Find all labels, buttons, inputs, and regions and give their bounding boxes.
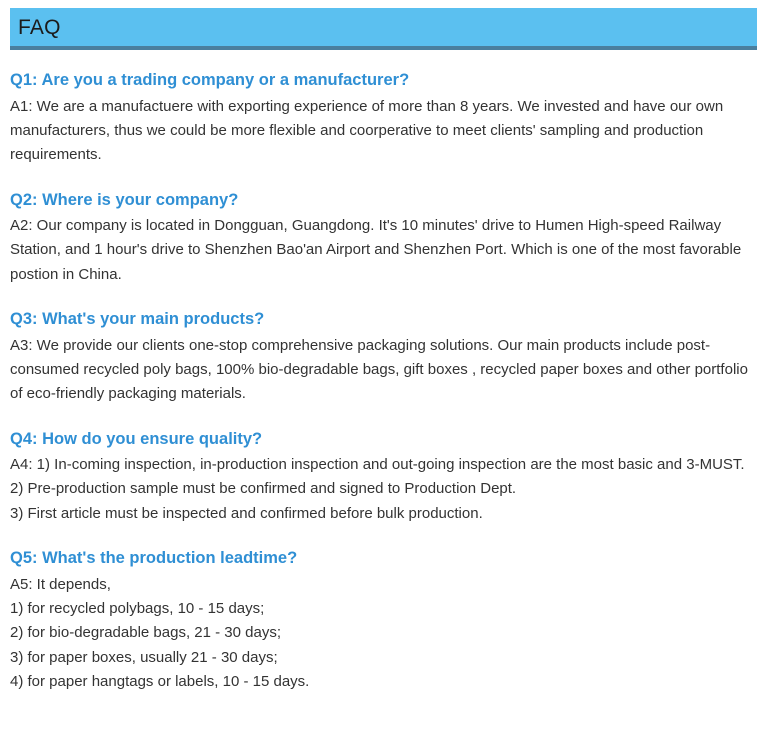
faq-answer-line: 3) for paper boxes, usually 21 - 30 days… [10, 646, 752, 670]
faq-answer-q3: A3: We provide our clients one-stop comp… [10, 334, 752, 407]
faq-header-banner: FAQ [10, 8, 757, 50]
page-title: FAQ [18, 17, 61, 38]
faq-answer-line: A2: Our company is located in Dongguan, … [10, 214, 752, 287]
faq-item-q1: Q1: Are you a trading company or a manuf… [10, 70, 753, 168]
faq-answer-line: 4) for paper hangtags or labels, 10 - 15… [10, 670, 752, 694]
faq-answer-line: A4: 1) In-coming inspection, in-producti… [10, 453, 752, 477]
faq-answer-line: A3: We provide our clients one-stop comp… [10, 334, 752, 407]
faq-question-q2: Q2: Where is your company? [10, 190, 753, 211]
faq-answer-q4: A4: 1) In-coming inspection, in-producti… [10, 453, 752, 526]
faq-question-q3: Q3: What's your main products? [10, 309, 753, 330]
faq-answer-line: 2) Pre-production sample must be confirm… [10, 477, 752, 501]
faq-answer-line: 1) for recycled polybags, 10 - 15 days; [10, 597, 752, 621]
faq-question-q5: Q5: What's the production leadtime? [10, 548, 753, 569]
faq-item-q4: Q4: How do you ensure quality? A4: 1) In… [10, 429, 753, 527]
faq-page: FAQ Q1: Are you a trading company or a m… [0, 8, 765, 756]
faq-item-q2: Q2: Where is your company? A2: Our compa… [10, 190, 753, 288]
faq-answer-line: A5: It depends, [10, 573, 752, 597]
faq-answer-line: A1: We are a manufactuere with exporting… [10, 95, 752, 168]
faq-answer-line: 3) First article must be inspected and c… [10, 502, 752, 526]
faq-answer-line: 2) for bio-degradable bags, 21 - 30 days… [10, 621, 752, 645]
faq-answer-q2: A2: Our company is located in Dongguan, … [10, 214, 752, 287]
faq-answer-q5: A5: It depends, 1) for recycled polybags… [10, 573, 752, 694]
faq-item-q3: Q3: What's your main products? A3: We pr… [10, 309, 753, 407]
faq-question-q1: Q1: Are you a trading company or a manuf… [10, 70, 753, 91]
faq-item-q5: Q5: What's the production leadtime? A5: … [10, 548, 753, 694]
faq-question-q4: Q4: How do you ensure quality? [10, 429, 753, 450]
faq-list: Q1: Are you a trading company or a manuf… [0, 70, 765, 694]
faq-answer-q1: A1: We are a manufactuere with exporting… [10, 95, 752, 168]
